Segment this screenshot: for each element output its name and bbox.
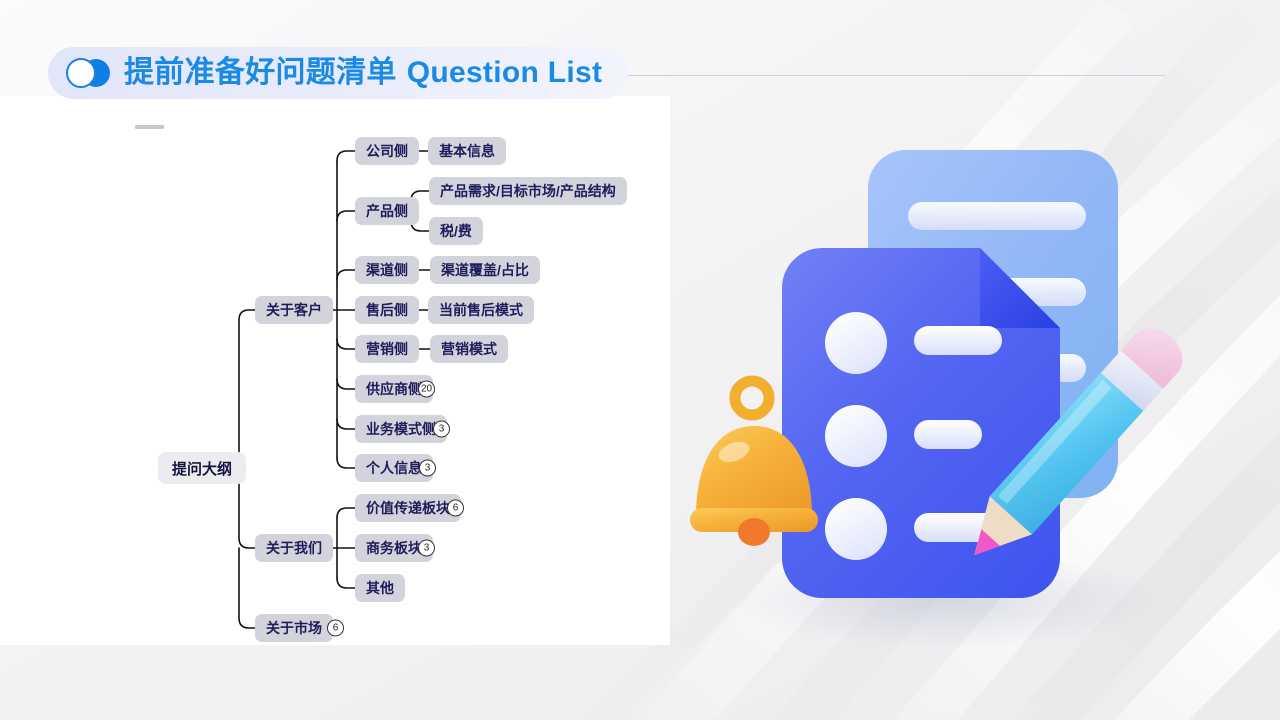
node-label: 税/费 [440, 221, 472, 241]
mindmap-node-product-side[interactable]: 产品侧 [355, 197, 419, 225]
mindmap-node-about-customer[interactable]: 关于客户 [255, 296, 333, 324]
collapse-badge[interactable]: 6 [447, 500, 464, 517]
mindmap-leaf-current-aftersales-mode[interactable]: 当前售后模式 [428, 296, 534, 324]
collapse-badge[interactable]: 20 [418, 381, 435, 398]
mindmap-node-value-delivery[interactable]: 价值传递板块 [355, 494, 461, 522]
bell-clapper [738, 518, 770, 546]
node-label: 基本信息 [439, 141, 495, 161]
node-label: 供应商侧 [366, 379, 422, 399]
node-label: 产品侧 [366, 201, 408, 221]
node-label: 其他 [366, 578, 394, 598]
node-label: 营销侧 [366, 339, 408, 359]
node-label: 价值传递板块 [366, 498, 450, 518]
mindmap-connector-lines [0, 0, 700, 720]
collapse-badge[interactable]: 3 [418, 540, 435, 557]
mindmap-node-company-side[interactable]: 公司侧 [355, 137, 419, 165]
checklist-bullet [825, 498, 887, 560]
node-label: 公司侧 [366, 141, 408, 161]
mindmap-leaf-basic-info[interactable]: 基本信息 [428, 137, 506, 165]
mindmap-leaf-product-demand[interactable]: 产品需求/目标市场/产品结构 [429, 177, 627, 205]
page-title: 提前准备好问题清单Question List [124, 58, 602, 88]
mindmap-node-about-us[interactable]: 关于我们 [255, 534, 333, 562]
mindmap-root-node[interactable]: 提问大纲 [158, 452, 246, 484]
mindmap-leaf-channel-coverage[interactable]: 渠道覆盖/占比 [430, 256, 540, 284]
collapse-badge[interactable]: 6 [327, 620, 344, 637]
mindmap[interactable]: 提问大纲 关于客户 关于我们 关于市场 6 公司侧 产品侧 渠道侧 售后侧 营销… [0, 0, 700, 720]
checklist-bar [914, 420, 982, 449]
page-title-en: Question List [407, 56, 603, 89]
node-label: 商务板块 [366, 538, 422, 558]
collapse-badge[interactable]: 3 [433, 421, 450, 438]
mindmap-node-aftersales-side[interactable]: 售后侧 [355, 296, 419, 324]
mindmap-node-channel-side[interactable]: 渠道侧 [355, 256, 419, 284]
node-label: 关于市场 [266, 618, 322, 638]
mindmap-leaf-marketing-mode[interactable]: 营销模式 [430, 335, 508, 363]
node-label: 关于我们 [266, 538, 322, 558]
node-label: 业务模式侧 [366, 419, 436, 439]
node-label: 产品需求/目标市场/产品结构 [440, 181, 616, 201]
mindmap-node-marketing-side[interactable]: 营销侧 [355, 335, 419, 363]
mindmap-leaf-tax-fee[interactable]: 税/费 [429, 217, 483, 245]
page-title-cn: 提前准备好问题清单 [124, 56, 397, 89]
node-label: 售后侧 [366, 300, 408, 320]
checklist-bullet [825, 405, 887, 467]
node-label: 渠道侧 [366, 260, 408, 280]
checklist-bullet [825, 312, 887, 374]
3d-checklist-illustration [660, 140, 1220, 660]
collapse-badge[interactable]: 3 [419, 460, 436, 477]
mindmap-node-other[interactable]: 其他 [355, 574, 405, 602]
node-label: 渠道覆盖/占比 [441, 260, 529, 280]
node-label: 关于客户 [266, 300, 322, 320]
node-label: 个人信息 [366, 458, 422, 478]
node-label: 提问大纲 [172, 458, 232, 479]
header: 提前准备好问题清单Question List [0, 0, 1280, 100]
title-badge: 提前准备好问题清单Question List [48, 47, 628, 99]
node-label: 营销模式 [441, 339, 497, 359]
mindmap-node-about-market[interactable]: 关于市场 [255, 614, 333, 642]
toggle-circles-icon [66, 58, 110, 88]
checklist-bar [914, 326, 1002, 355]
node-label: 当前售后模式 [439, 300, 523, 320]
